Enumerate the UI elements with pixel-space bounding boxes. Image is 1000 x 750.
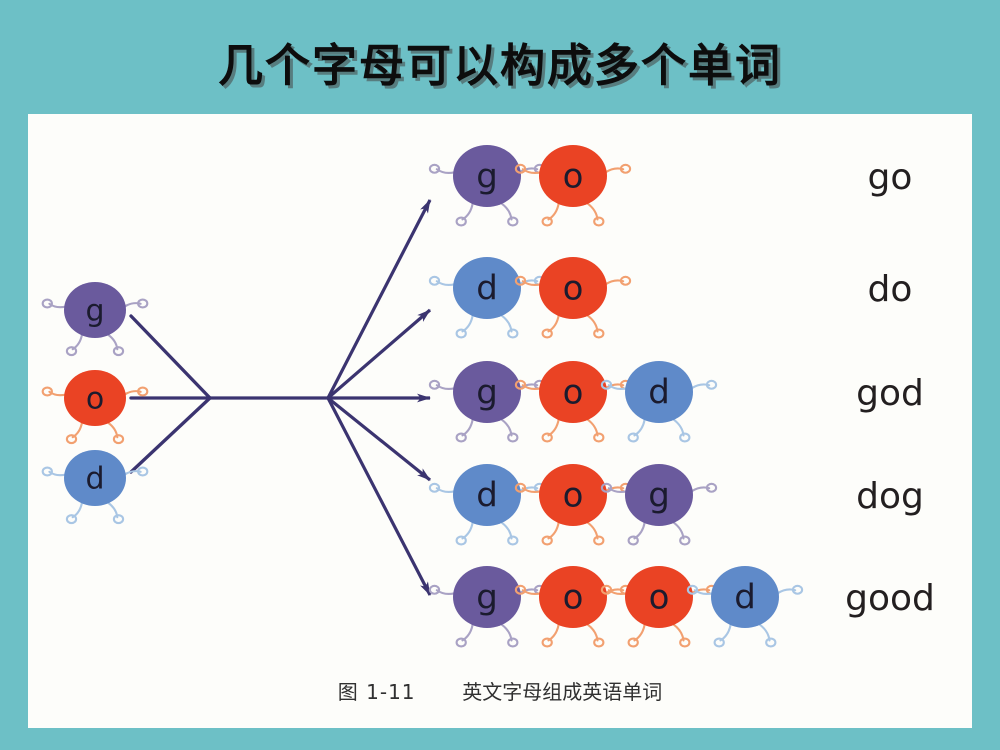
word-label-good: good: [845, 578, 935, 619]
leg-left-limb: [549, 624, 559, 640]
letter-char-d-dog-0: d: [430, 464, 544, 544]
leg-right-limb: [587, 522, 597, 538]
leg-left-limb: [549, 315, 559, 331]
converge-line-g: [131, 316, 210, 398]
leg-right-limb: [673, 419, 683, 435]
leg-right-limb-curl: [594, 330, 603, 338]
converge-line-d: [131, 398, 210, 472]
leg-right-limb: [587, 315, 597, 331]
leg-left-limb: [549, 203, 559, 219]
leg-right-limb-curl: [680, 434, 689, 442]
leg-left-limb-curl: [457, 639, 466, 647]
leg-right-limb-curl: [508, 434, 517, 442]
leg-left-limb: [549, 522, 559, 538]
figure-number: 图 1-11: [338, 680, 416, 704]
leg-right-limb-curl: [508, 537, 517, 545]
letter-char-d-good-3: d: [688, 566, 802, 646]
slide-canvas: 几个字母可以构成多个单词 godgodogoddoggood godogoddo…: [0, 0, 1000, 750]
leg-left-limb-curl: [67, 347, 76, 355]
letter-glyph-text: o: [649, 578, 670, 618]
leg-left-limb: [721, 624, 731, 640]
leg-right-limb: [501, 624, 511, 640]
leg-left-limb-curl: [715, 639, 724, 647]
arrow-to-good: [328, 398, 430, 595]
arrow-to-go: [328, 200, 430, 398]
leg-left-limb-curl: [457, 434, 466, 442]
leg-left-limb: [635, 624, 645, 640]
letter-glyph-text: o: [563, 373, 584, 413]
arrow-layer: [131, 200, 430, 595]
leg-left-limb-curl: [543, 639, 552, 647]
leg-right-limb: [501, 203, 511, 219]
leg-left-limb-curl: [543, 537, 552, 545]
letter-char-g-good-0: g: [430, 566, 544, 646]
leg-left-limb: [463, 419, 473, 435]
leg-left-limb-curl: [629, 537, 638, 545]
leg-right-limb-curl: [766, 639, 775, 647]
figure-caption: 图 1-11 英文字母组成英语单词: [28, 676, 972, 705]
letter-glyph-text: d: [734, 578, 756, 618]
leg-right-limb-curl: [680, 639, 689, 647]
leg-right-limb: [759, 624, 769, 640]
leg-right-limb: [587, 203, 597, 219]
leg-right-limb: [673, 522, 683, 538]
leg-right-limb: [673, 624, 683, 640]
figure-panel: godgodogoddoggood godogoddoggood 图 1-11 …: [28, 114, 972, 728]
arrow-to-do: [328, 310, 430, 398]
leg-left-limb: [463, 624, 473, 640]
letter-glyph-text: d: [85, 461, 104, 496]
leg-right-limb-curl: [594, 218, 603, 226]
leg-left-limb-curl: [629, 434, 638, 442]
page-title: 几个字母可以构成多个单词: [0, 44, 1000, 89]
letter-char-o-src1: o: [43, 370, 148, 443]
leg-left-limb-curl: [629, 639, 638, 647]
letter-char-o-go-1: o: [516, 145, 630, 225]
leg-left-limb-curl: [543, 330, 552, 338]
letter-char-g-god-0: g: [430, 361, 544, 441]
letter-char-d-do-0: d: [430, 257, 544, 337]
letter-diagram: godgodogoddoggood godogoddoggood: [28, 114, 972, 728]
letter-glyph-text: d: [476, 269, 498, 309]
leg-left-limb: [463, 522, 473, 538]
leg-right-limb-curl: [114, 347, 123, 355]
figure-title: 英文字母组成英语单词: [462, 680, 662, 704]
letter-char-g-dog-2: g: [602, 464, 716, 544]
letter-char-d-src2: d: [43, 450, 148, 523]
letter-glyph-text: o: [563, 269, 584, 309]
leg-right-limb: [501, 522, 511, 538]
leg-right-limb: [501, 419, 511, 435]
letter-glyph-text: o: [563, 476, 584, 516]
leg-right-limb-curl: [508, 218, 517, 226]
letter-glyph-text: o: [86, 381, 104, 416]
leg-left-limb-curl: [457, 537, 466, 545]
leg-right-limb-curl: [594, 537, 603, 545]
letter-char-o-god-1: o: [516, 361, 630, 441]
glyph-layer: godgodogoddoggood: [43, 145, 802, 646]
leg-left-limb: [463, 203, 473, 219]
leg-left-limb-curl: [457, 218, 466, 226]
letter-glyph-text: g: [476, 578, 498, 618]
letter-glyph-text: d: [476, 476, 498, 516]
letter-glyph-text: d: [648, 373, 670, 413]
leg-right-limb: [587, 419, 597, 435]
leg-right-limb: [501, 315, 511, 331]
letter-glyph-text: o: [563, 157, 584, 197]
leg-right-limb-curl: [114, 435, 123, 443]
leg-left-limb-curl: [543, 218, 552, 226]
letter-char-o-good-1: o: [516, 566, 630, 646]
leg-left-limb: [635, 419, 645, 435]
letter-glyph-text: g: [476, 373, 498, 413]
word-label-dog: dog: [856, 476, 924, 517]
leg-right-limb-curl: [508, 639, 517, 647]
letter-char-g-go-0: g: [430, 145, 544, 225]
leg-left-limb-curl: [67, 435, 76, 443]
leg-left-limb-curl: [457, 330, 466, 338]
leg-right-limb: [587, 624, 597, 640]
arrow-to-dog: [328, 398, 430, 480]
letter-glyph-text: o: [563, 578, 584, 618]
leg-right-limb-curl: [594, 434, 603, 442]
leg-left-limb: [635, 522, 645, 538]
leg-left-limb-curl: [67, 515, 76, 523]
leg-right-limb-curl: [594, 639, 603, 647]
letter-glyph-text: g: [476, 157, 498, 197]
letter-char-o-good-2: o: [602, 566, 716, 646]
leg-right-limb-curl: [508, 330, 517, 338]
letter-char-o-dog-1: o: [516, 464, 630, 544]
letter-glyph-text: g: [648, 476, 670, 516]
word-label-layer: godogoddoggood: [845, 157, 935, 619]
leg-left-limb: [463, 315, 473, 331]
leg-left-limb-curl: [543, 434, 552, 442]
leg-left-limb: [549, 419, 559, 435]
letter-glyph-text: g: [85, 293, 104, 328]
letter-char-o-do-1: o: [516, 257, 630, 337]
word-label-go: go: [868, 157, 913, 198]
leg-right-limb-curl: [114, 515, 123, 523]
word-label-god: god: [856, 373, 924, 414]
letter-char-d-god-2: d: [602, 361, 716, 441]
word-label-do: do: [868, 269, 913, 310]
leg-right-limb-curl: [680, 537, 689, 545]
